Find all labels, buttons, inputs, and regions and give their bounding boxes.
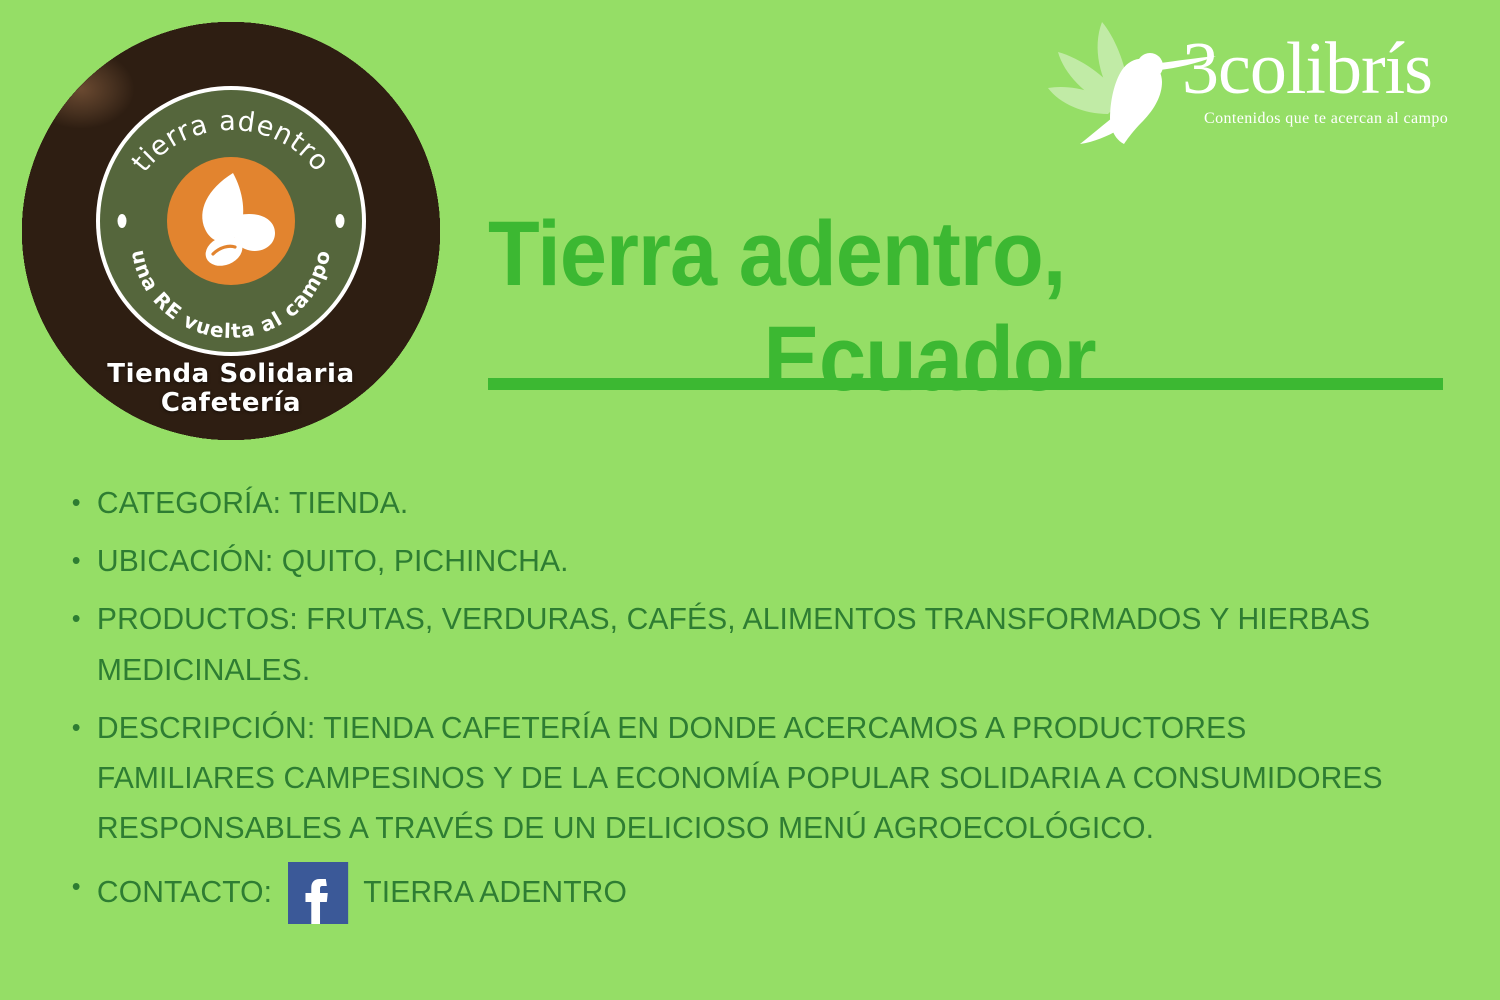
list-item-text: CATEGORÍA: TIENDA.: [97, 485, 408, 520]
logo-caption-line2: Cafetería: [22, 389, 440, 418]
list-item: PRODUCTOS: FRUTAS, VERDURAS, CAFÉS, ALIM…: [62, 594, 1420, 694]
list-item-text: DESCRIPCIÓN: TIENDA CAFETERÍA EN DONDE A…: [97, 710, 1383, 845]
list-item-text: PRODUCTOS: FRUTAS, VERDURAS, CAFÉS, ALIM…: [97, 601, 1370, 686]
list-item: CATEGORÍA: TIENDA.: [62, 478, 1420, 528]
list-item-contact: CONTACTO: TIERRA ADENTRO: [62, 862, 1420, 924]
title-divider: [488, 378, 1443, 390]
leaf-and-bean-icon: [167, 157, 295, 285]
logo-orange-circle: [167, 157, 295, 285]
info-list: CATEGORÍA: TIENDA. UBICACIÓN: QUITO, PIC…: [62, 478, 1462, 932]
logo-caption-line1: Tienda Solidaria: [22, 360, 440, 389]
colibris-logo: 3colibrís Contenidos que te acercan al c…: [1044, 14, 1444, 146]
page-title-line2: Ecuador: [488, 307, 1371, 413]
logo-right-bean-dot: [336, 214, 345, 228]
list-item: DESCRIPCIÓN: TIENDA CAFETERÍA EN DONDE A…: [62, 703, 1420, 854]
contact-handle: TIERRA ADENTRO: [363, 867, 627, 917]
colibris-tagline: Contenidos que te acercan al campo: [1204, 110, 1448, 128]
contact-label: CONTACTO:: [97, 867, 272, 917]
logo-caption: Tienda Solidaria Cafetería: [22, 360, 440, 418]
brand-logo: tierra adentro una RE vuelta al campo Ti…: [22, 22, 440, 440]
facebook-icon[interactable]: [288, 862, 348, 924]
logo-left-bean-dot: [118, 214, 127, 228]
list-item-text: UBICACIÓN: QUITO, PICHINCHA.: [97, 543, 569, 578]
logo-olive-disc: tierra adentro una RE vuelta al campo: [100, 90, 362, 352]
list-item: UBICACIÓN: QUITO, PICHINCHA.: [62, 536, 1420, 586]
page-title-line1: Tierra adentro,: [488, 203, 1065, 305]
colibris-wordmark: 3colibrís: [1182, 32, 1432, 106]
